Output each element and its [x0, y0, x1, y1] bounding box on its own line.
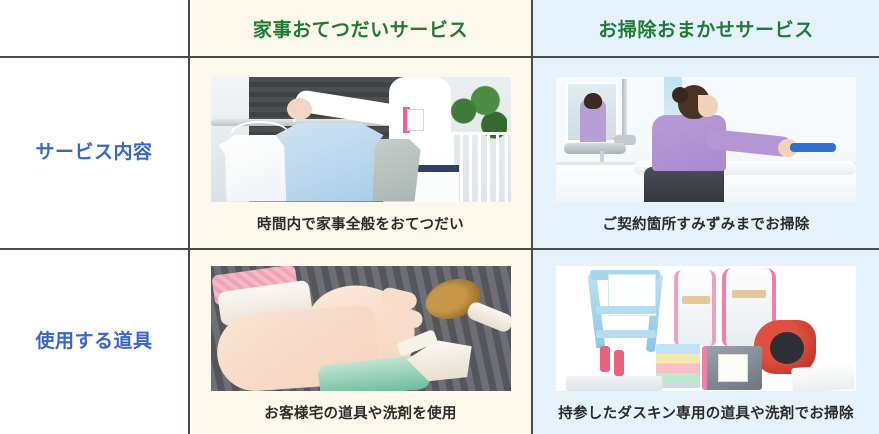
table-corner-cell [0, 0, 190, 58]
media-block: 時間内で家事全般をおてつだい [190, 58, 531, 248]
cell-service-content-cleaning: ご契約箇所すみずみまでお掃除 [533, 58, 879, 250]
photo-bathtub-cleaning [556, 77, 856, 202]
row-header-service-content: サービス内容 [0, 58, 190, 250]
photo-staff-badge [407, 109, 424, 131]
photo-detergent-bottle-red [614, 350, 624, 376]
photo-tool-bag-1 [674, 270, 716, 346]
photo-scrub-brush-handle [465, 300, 511, 334]
column-header-label: 家事おてつだいサービス [253, 15, 468, 42]
photo-detergent-bottle-red [600, 346, 610, 372]
cell-tools-house-help: お客様宅の道具や洗剤を使用 [190, 250, 533, 434]
photo-tool-bag-tag [732, 290, 766, 298]
cell-caption: お客様宅の道具や洗剤を使用 [264, 402, 456, 423]
photo-staff-face [698, 95, 718, 117]
cell-tools-cleaning: 持参したダスキン専用の道具や洗剤でお掃除 [533, 250, 879, 434]
media-block: お客様宅の道具や洗剤を使用 [190, 250, 531, 434]
photo-binder-paper [718, 354, 748, 382]
cell-caption: ご契約箇所すみずみまでお掃除 [602, 213, 809, 234]
media-block: ご契約箇所すみずみまでお掃除 [533, 58, 879, 248]
photo-vacuum-drum [770, 332, 804, 364]
photo-shirt-blue [276, 123, 384, 202]
photo-cleaning-tool [790, 143, 836, 152]
column-header-label: お掃除おまかせサービス [598, 15, 814, 42]
photo-mirror-reflection-head [584, 93, 602, 109]
photo-ladder-step [596, 330, 656, 338]
photo-laundry-hanging [211, 77, 511, 202]
row-header-label: サービス内容 [35, 141, 152, 166]
photo-cloth-stack [656, 344, 700, 388]
cell-service-content-house-help: 時間内で家事全般をおてつだい [190, 58, 533, 250]
photo-tray [566, 376, 662, 391]
photo-tool-bag-tag [682, 296, 710, 304]
service-comparison-table: 家事おてつだいサービス お掃除おまかせサービス サービス内容 [0, 0, 879, 434]
media-block: 持参したダスキン専用の道具や洗剤でお掃除 [533, 250, 879, 434]
photo-staff-pants [644, 167, 724, 202]
photo-towel [791, 363, 855, 390]
cell-caption: 時間内で家事全般をおてつだい [257, 213, 464, 234]
row-header-label: 使用する道具 [35, 330, 152, 355]
column-header-cleaning: お掃除おまかせサービス [533, 0, 879, 58]
photo-gloves-and-tools [211, 266, 511, 391]
column-header-house-help: 家事おてつだいサービス [190, 0, 533, 58]
photo-staff-hand [287, 98, 312, 120]
photo-ladder-step [596, 306, 656, 314]
photo-staff-hair-bun [672, 87, 688, 103]
row-header-tools-used: 使用する道具 [0, 250, 190, 434]
photo-duskin-equipment-set [556, 266, 856, 391]
cell-caption: 持参したダスキン専用の道具や洗剤でお掃除 [558, 402, 854, 423]
